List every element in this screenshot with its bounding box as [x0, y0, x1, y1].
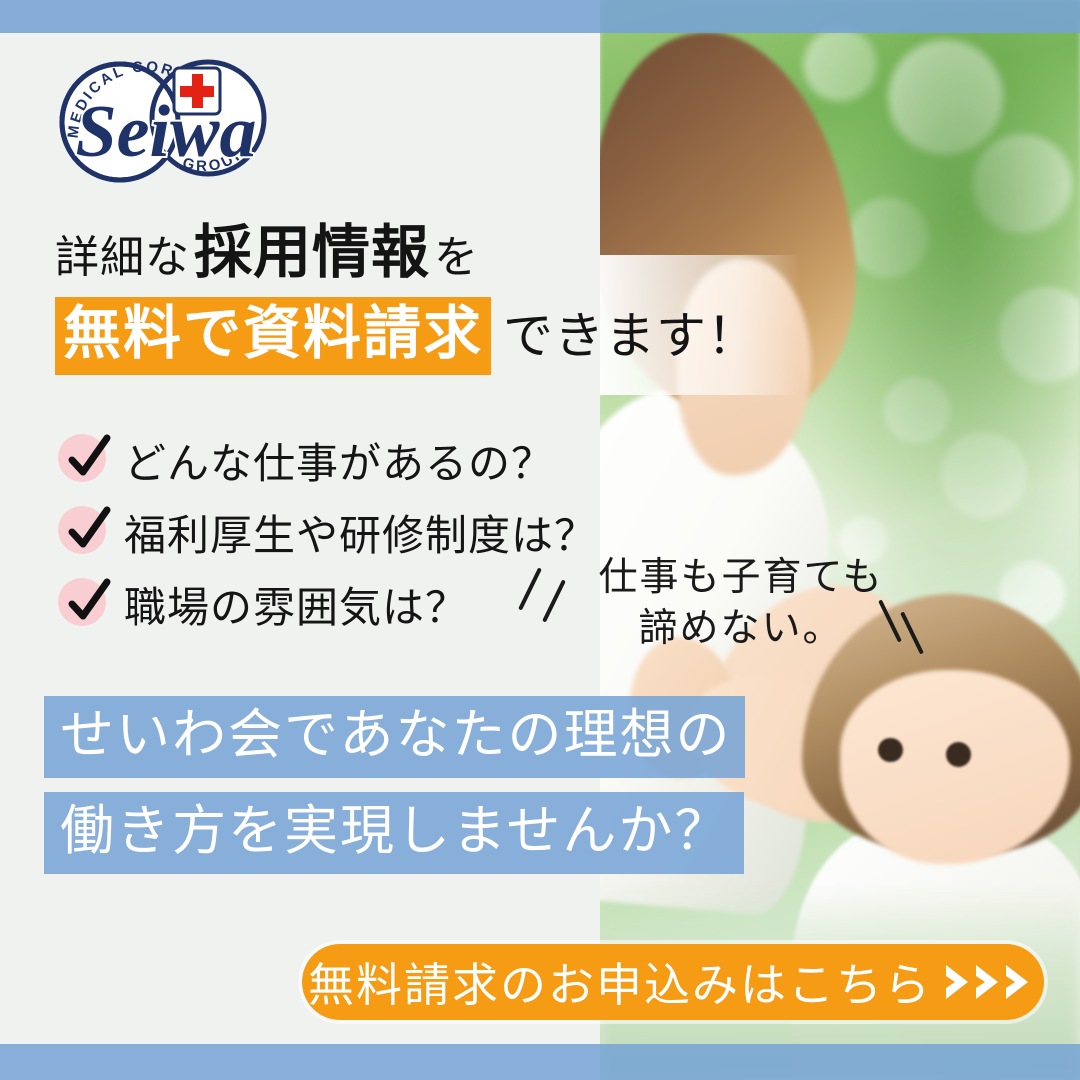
list-item-label: 福利厚生や研修制度は？ [124, 502, 597, 563]
headline-prefix: 詳細な [55, 234, 190, 282]
cta-label: 無料請求のお申込みはこちら [308, 949, 932, 1015]
headline-highlight: 無料で資料請求 [55, 297, 491, 375]
headline-line-2: 無料で資料請求 できます！ [55, 297, 715, 375]
photo-overlay-copy: 仕事も子育ても 諦めない。 [576, 552, 906, 655]
photo-copy-line-2: 諦めない。 [576, 603, 906, 654]
banner-line-1: せいわ会であなたの理想の [44, 696, 745, 778]
headline-line-1: 詳細な 採用情報 を [55, 222, 715, 285]
headline: 詳細な 採用情報 を 無料で資料請求 できます！ [55, 222, 715, 375]
banner: せいわ会であなたの理想の 働き方を実現しませんか？ [44, 696, 745, 874]
recruitment-poster: MEDICAL CORP GROUP Seiwa 詳細な 採用情報 を 無料で資… [0, 0, 1080, 1080]
hero-photo [600, 0, 1080, 1080]
triple-chevron-right-icon [942, 959, 1038, 1005]
cta-button[interactable]: 無料請求のお申込みはこちら [302, 944, 1044, 1020]
list-item: 福利厚生や研修制度は？ [58, 496, 618, 568]
check-icon [58, 506, 110, 558]
check-icon [58, 578, 110, 630]
seiwa-logo[interactable]: MEDICAL CORP GROUP Seiwa [48, 52, 298, 188]
headline-tail: できます！ [503, 309, 758, 363]
list-item-label: どんな仕事があるの？ [124, 430, 554, 491]
check-icon [58, 434, 110, 486]
top-blue-bar [0, 0, 1080, 33]
headline-emphasis: 採用情報 [194, 222, 430, 285]
photo-copy-line-1: 仕事も子育ても [598, 556, 883, 599]
list-item: どんな仕事があるの？ [58, 424, 618, 496]
photo-child-eye-right [946, 742, 971, 767]
banner-line-2: 働き方を実現しませんか？ [44, 792, 744, 874]
checklist: どんな仕事があるの？ 福利厚生や研修制度は？ 職場の雰囲気は？ [58, 424, 618, 640]
bottom-blue-bar [0, 1044, 1080, 1080]
list-item-label: 職場の雰囲気は？ [124, 574, 468, 635]
headline-suffix: を [434, 234, 479, 282]
logo-wordmark: Seiwa [76, 91, 257, 173]
